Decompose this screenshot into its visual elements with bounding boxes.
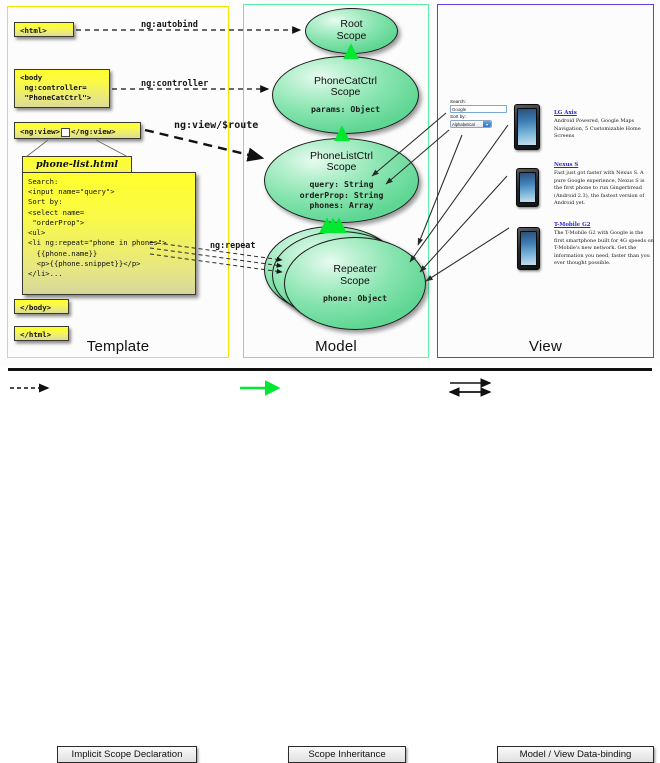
search-sort-widget: Search: Google Sort by: Alphabetical ▾: [450, 99, 510, 137]
search-input[interactable]: Google: [450, 105, 507, 113]
phone-image-t-mobile-g2: [517, 227, 540, 270]
scope-root-name: RootScope: [337, 19, 367, 43]
code-box-body-close: </body>: [14, 299, 69, 314]
list-item: LG Axis Android Powered, Google Maps Nav…: [554, 110, 654, 141]
ngview-close-tag: </ng:view>: [71, 127, 116, 136]
ngview-open-tag: <ng:view>: [20, 127, 60, 136]
scope-root: RootScope: [305, 8, 398, 54]
sort-select-value: Alphabetical: [452, 121, 475, 128]
phone-link-title[interactable]: LG Axis: [554, 110, 654, 116]
code-box-html-open: <html>: [14, 22, 74, 37]
phone-screen: [520, 231, 537, 266]
scope-repeater-props: phone: Object: [323, 293, 387, 304]
legend-label-scope-inheritance: Scope Inheritance: [288, 746, 406, 763]
column-model-label: Model: [244, 338, 428, 355]
diagram-canvas: Template Model View <html> <body ng:cont…: [0, 0, 660, 405]
phone-link-title[interactable]: Nexus S: [554, 162, 654, 168]
arrow-label-ng-autobind: ng:autobind: [141, 20, 198, 30]
scope-phonecatctrl-props: params: Object: [311, 104, 380, 115]
scope-repeater: RepeaterScope phone: Object: [284, 237, 426, 330]
note-code-phone-list: Search: <input name="query"> Sort by: <s…: [22, 172, 196, 295]
list-item: Nexus S Fast just got faster with Nexus …: [554, 162, 654, 208]
scope-phonelistctrl-name: PhoneListCtrlScope: [310, 151, 373, 175]
phone-snippet: Android Powered, Google Maps Navigation,…: [554, 118, 654, 141]
arrow-label-ng-controller: ng:controller: [141, 79, 208, 89]
phone-link-title[interactable]: T-Mobile G2: [554, 222, 654, 228]
scope-phonelistctrl-props: query: StringorderProp: Stringphones: Ar…: [300, 179, 384, 211]
code-box-html-close: </html>: [14, 326, 69, 341]
arrow-label-ng-view-route: ng:view/$route: [174, 120, 258, 131]
chevron-down-icon: ▾: [483, 121, 491, 127]
phone-screen: [519, 172, 536, 203]
note-title-phone-list: phone-list.html: [22, 156, 132, 173]
sort-select[interactable]: Alphabetical ▾: [450, 120, 492, 128]
legend-label-implicit-scope-declaration: Implicit Scope Declaration: [57, 746, 197, 763]
scope-phonelistctrl: PhoneListCtrlScope query: StringorderPro…: [264, 138, 419, 223]
double-arrow-icon: [450, 383, 490, 392]
scope-phonecatctrl-name: PhoneCatCtrlScope: [314, 76, 377, 100]
arrow-label-ng-repeat: ng:repeat: [210, 240, 255, 250]
scope-repeater-name: RepeaterScope: [333, 264, 376, 288]
phone-screen: [517, 108, 537, 146]
scope-repeater-stack: RepeaterScope phone: Object: [264, 226, 426, 331]
code-box-ngview: <ng:view></ng:view>: [14, 122, 141, 139]
legend-label-model-view-data-binding: Model / View Data-binding: [497, 746, 654, 763]
scope-phonecatctrl: PhoneCatCtrlScope params: Object: [272, 56, 419, 134]
phone-image-nexus-s: [516, 168, 539, 207]
legend-icons: [0, 366, 660, 405]
legend: Implicit Scope Declaration Scope Inherit…: [0, 366, 660, 405]
column-view-label: View: [438, 338, 653, 355]
code-box-body-open: <body ng:controller= "PhoneCatCtrl">: [14, 69, 110, 108]
phone-snippet: Fast just got faster with Nexus S. A pur…: [554, 170, 654, 208]
phone-snippet: The T-Mobile G2 with Google is the first…: [554, 230, 654, 268]
list-item: T-Mobile G2 The T-Mobile G2 with Google …: [554, 222, 654, 268]
phone-image-lg-axis: [514, 104, 540, 150]
ngview-placeholder-icon: [61, 128, 70, 137]
